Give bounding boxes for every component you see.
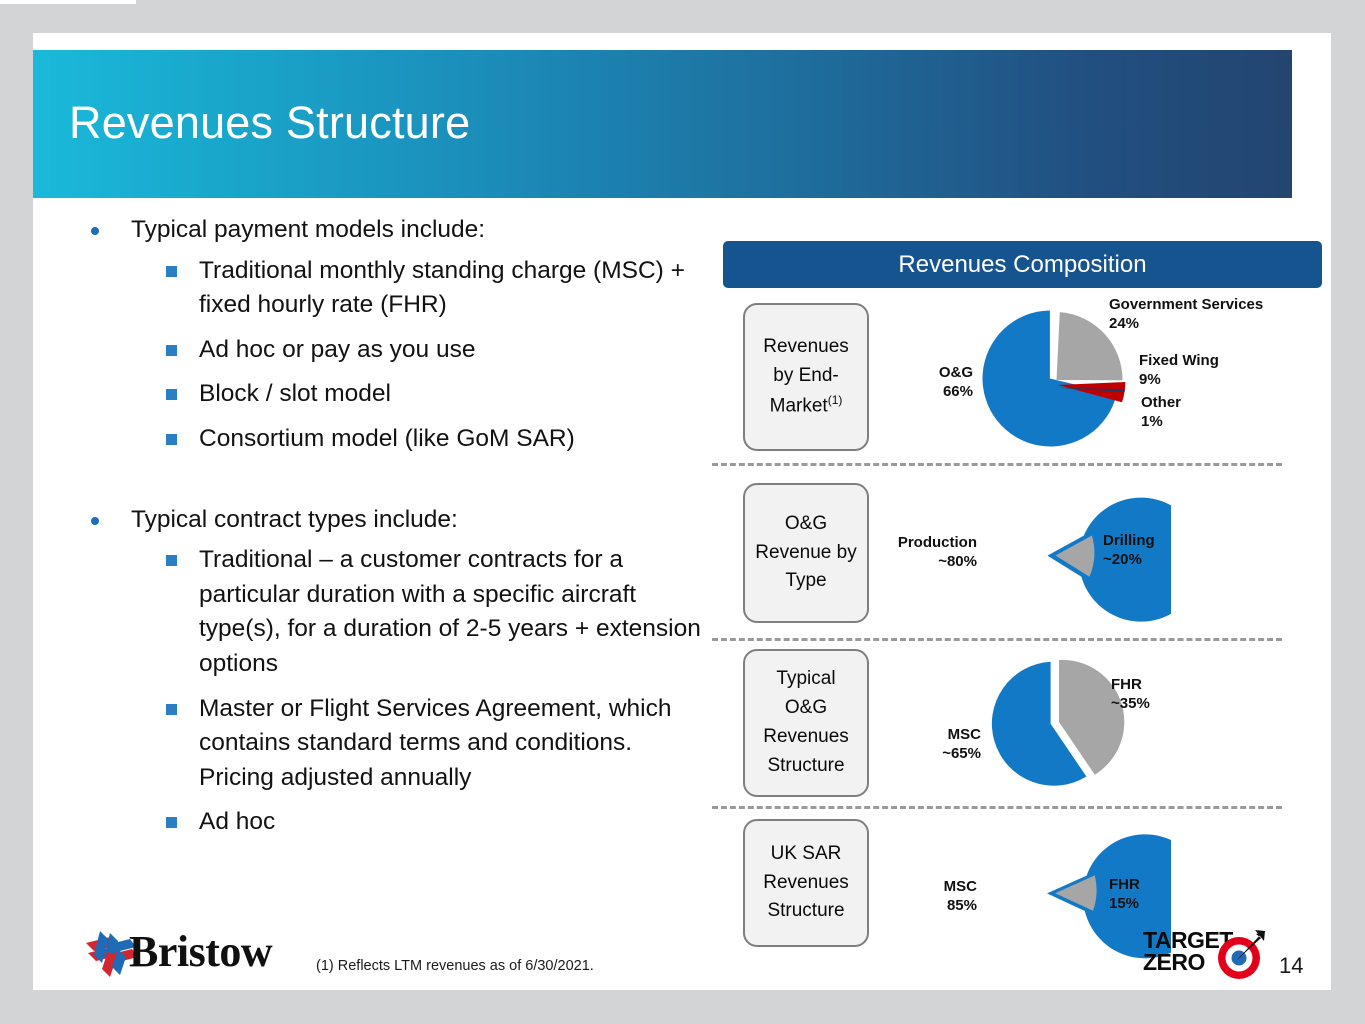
- bullet-dot-icon: [91, 227, 99, 235]
- revenues-composition-title: Revenues Composition: [898, 251, 1146, 279]
- pie-label-production: Production~80%: [877, 533, 977, 571]
- bullet-level1-item: Typical contract types include:: [53, 505, 701, 536]
- chart-row-typical-og: Typical O&G Revenues Structure: [723, 647, 1324, 807]
- chart-label-line: Structure: [767, 897, 844, 926]
- chart-label-line: Typical: [776, 665, 835, 694]
- page-number: 14: [1279, 953, 1303, 979]
- bullet-level2-item: Ad hoc or pay as you use: [53, 333, 701, 368]
- bullet-level2-item: Block / slot model: [53, 377, 701, 412]
- bullet-square-icon: [166, 704, 177, 715]
- pie-label-fixed-wing: Fixed Wing9%: [1139, 351, 1269, 389]
- pie-label-drilling: Drilling~20%: [1103, 531, 1213, 569]
- top-white-strip: [0, 0, 136, 4]
- chart-label-box-end-market: Revenues by End- Market(1): [743, 303, 869, 451]
- pie-chart-typical-og: MSC~65% FHR~35%: [985, 653, 1175, 798]
- pie-svg-typical-og: [985, 653, 1175, 793]
- bullet-level2-label: Consortium model (like GoM SAR): [199, 425, 575, 452]
- chart-divider: [712, 463, 1282, 466]
- bullet-level1-label: Typical contract types include:: [131, 506, 458, 533]
- bullet-dot-icon: [91, 517, 99, 525]
- pie-label-msc: MSC85%: [895, 877, 977, 915]
- chart-divider: [712, 806, 1282, 809]
- bullet-square-icon: [166, 266, 177, 277]
- chart-label-line: by End-: [773, 362, 838, 391]
- page-title: Revenues Structure: [69, 97, 470, 149]
- chart-label-box-uk-sar: UK SAR Revenues Structure: [743, 819, 869, 947]
- bullet-level2-label: Block / slot model: [199, 380, 391, 407]
- chart-label-line: O&G: [785, 694, 827, 723]
- pie-label-o-and-g: O&G66%: [901, 363, 973, 401]
- pie-label-government-services: Government Services24%: [1109, 295, 1259, 333]
- bullet-square-icon: [166, 817, 177, 828]
- chart-label-line: Revenues: [763, 333, 849, 362]
- target-zero-bullseye-icon: [1143, 928, 1273, 984]
- bullet-level2-label: Traditional monthly standing charge (MSC…: [199, 257, 685, 319]
- bullet-square-icon: [166, 555, 177, 566]
- pie-label-fhr: FHR~35%: [1111, 675, 1201, 713]
- bullet-level2-label: Ad hoc: [199, 808, 275, 835]
- bristow-wordmark: Bristow: [129, 926, 272, 977]
- slide-canvas: Revenues Structure Typical payment model…: [33, 33, 1331, 990]
- bullet-level2-label: Ad hoc or pay as you use: [199, 336, 475, 363]
- chart-label-line: Revenue by: [755, 539, 856, 568]
- chart-row-end-market: Revenues by End- Market(1): [723, 295, 1324, 460]
- bullet-level2-item: Ad hoc: [53, 805, 701, 840]
- bullet-level1-item: Typical payment models include:: [53, 215, 701, 246]
- pie-label-fhr: FHR15%: [1109, 875, 1199, 913]
- bullet-level2-item: Master or Flight Services Agreement, whi…: [53, 692, 701, 796]
- bullet-level1-label: Typical payment models include:: [131, 216, 485, 243]
- bullet-square-icon: [166, 434, 177, 445]
- chart-label-line: Type: [785, 567, 826, 596]
- footnote-text: (1) Reflects LTM revenues as of 6/30/202…: [316, 958, 594, 974]
- pie-chart-og-revenue-type: Production~80% Drilling~20%: [981, 485, 1171, 630]
- revenues-composition-banner: Revenues Composition: [723, 241, 1322, 288]
- chart-label-line: Market(1): [770, 391, 843, 421]
- slide-page: Revenues Structure Typical payment model…: [0, 0, 1365, 1024]
- chart-label-line: Revenues: [763, 869, 849, 898]
- bullet-level2-item: Traditional – a customer contracts for a…: [53, 543, 701, 681]
- bullet-group-spacer: [53, 467, 701, 505]
- bullet-square-icon: [166, 345, 177, 356]
- pie-chart-end-market: O&G66% Government Services24% Fixed Wing…: [961, 301, 1171, 466]
- chart-divider: [712, 638, 1282, 641]
- bullet-level2-item: Traditional monthly standing charge (MSC…: [53, 254, 701, 323]
- slide-header-band: Revenues Structure: [33, 50, 1292, 198]
- bullet-content-column: Typical payment models include: Traditio…: [53, 215, 701, 850]
- chart-label-box-typical-og: Typical O&G Revenues Structure: [743, 649, 869, 797]
- bullet-level2-label: Traditional – a customer contracts for a…: [199, 546, 701, 677]
- pie-label-other: Other1%: [1141, 393, 1261, 431]
- bullet-square-icon: [166, 389, 177, 400]
- revenues-composition-panel: Revenues Composition Revenues by End- Ma…: [690, 205, 1291, 945]
- pie-label-msc: MSC~65%: [901, 725, 981, 763]
- chart-label-line: UK SAR: [771, 840, 842, 869]
- chart-label-line: O&G: [785, 510, 827, 539]
- bullet-level2-item: Consortium model (like GoM SAR): [53, 422, 701, 457]
- chart-row-og-revenue-type: O&G Revenue by Type: [723, 477, 1324, 637]
- bullet-level2-label: Master or Flight Services Agreement, whi…: [199, 695, 672, 791]
- chart-label-line: Revenues: [763, 723, 849, 752]
- chart-label-line: Structure: [767, 752, 844, 781]
- chart-label-box-og-revenue-type: O&G Revenue by Type: [743, 483, 869, 623]
